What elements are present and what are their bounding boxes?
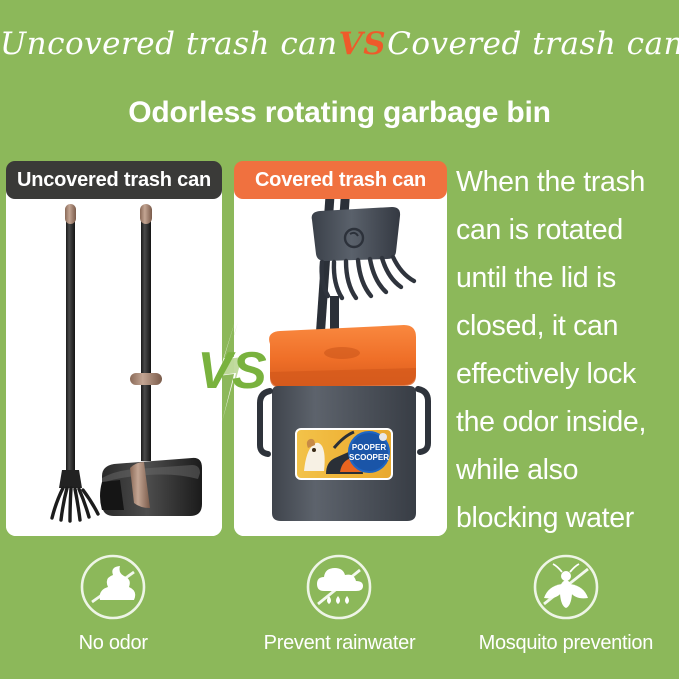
photo-panel-uncovered <box>6 186 222 536</box>
page-title-left: Uncovered trash can <box>0 26 338 62</box>
prevent-rainwater-icon <box>302 550 376 624</box>
no-odor-icon <box>76 550 150 624</box>
page-subtitle: Odorless rotating garbage bin <box>0 96 679 130</box>
mosquito-prevention-icon <box>529 550 603 624</box>
feature-label: Prevent rainwater <box>264 632 416 655</box>
covered-trash-can-illustration: POOPER SCOOPER <box>234 186 447 536</box>
svg-text:POOPER: POOPER <box>352 443 386 452</box>
badge-uncovered-trash-can: Uncovered trash can <box>6 161 222 199</box>
description-paragraph: When the trash can is rotated until the … <box>456 158 678 542</box>
feature-mosquito-prevention: Mosquito prevention <box>453 550 679 655</box>
infographic-canvas: Uncovered trash canVSCovered trash can O… <box>0 0 679 679</box>
product-label: POOPER SCOOPER <box>296 429 392 479</box>
svg-text:SCOOPER: SCOOPER <box>349 453 389 462</box>
feature-row: No odor Prevent rainwater <box>0 550 679 670</box>
feature-no-odor: No odor <box>0 550 226 655</box>
page-title: Uncovered trash canVSCovered trash can <box>0 22 679 66</box>
feature-label: No odor <box>79 632 148 655</box>
page-title-vs: VS <box>338 26 387 62</box>
badge-covered-trash-can: Covered trash can <box>234 161 447 199</box>
feature-prevent-rainwater: Prevent rainwater <box>226 550 452 655</box>
feature-label: Mosquito prevention <box>479 632 653 655</box>
photo-panel-covered: POOPER SCOOPER <box>234 186 447 536</box>
uncovered-trash-can-illustration <box>6 186 222 536</box>
page-title-right: Covered trash can <box>387 26 679 62</box>
bin-lid <box>269 325 416 388</box>
